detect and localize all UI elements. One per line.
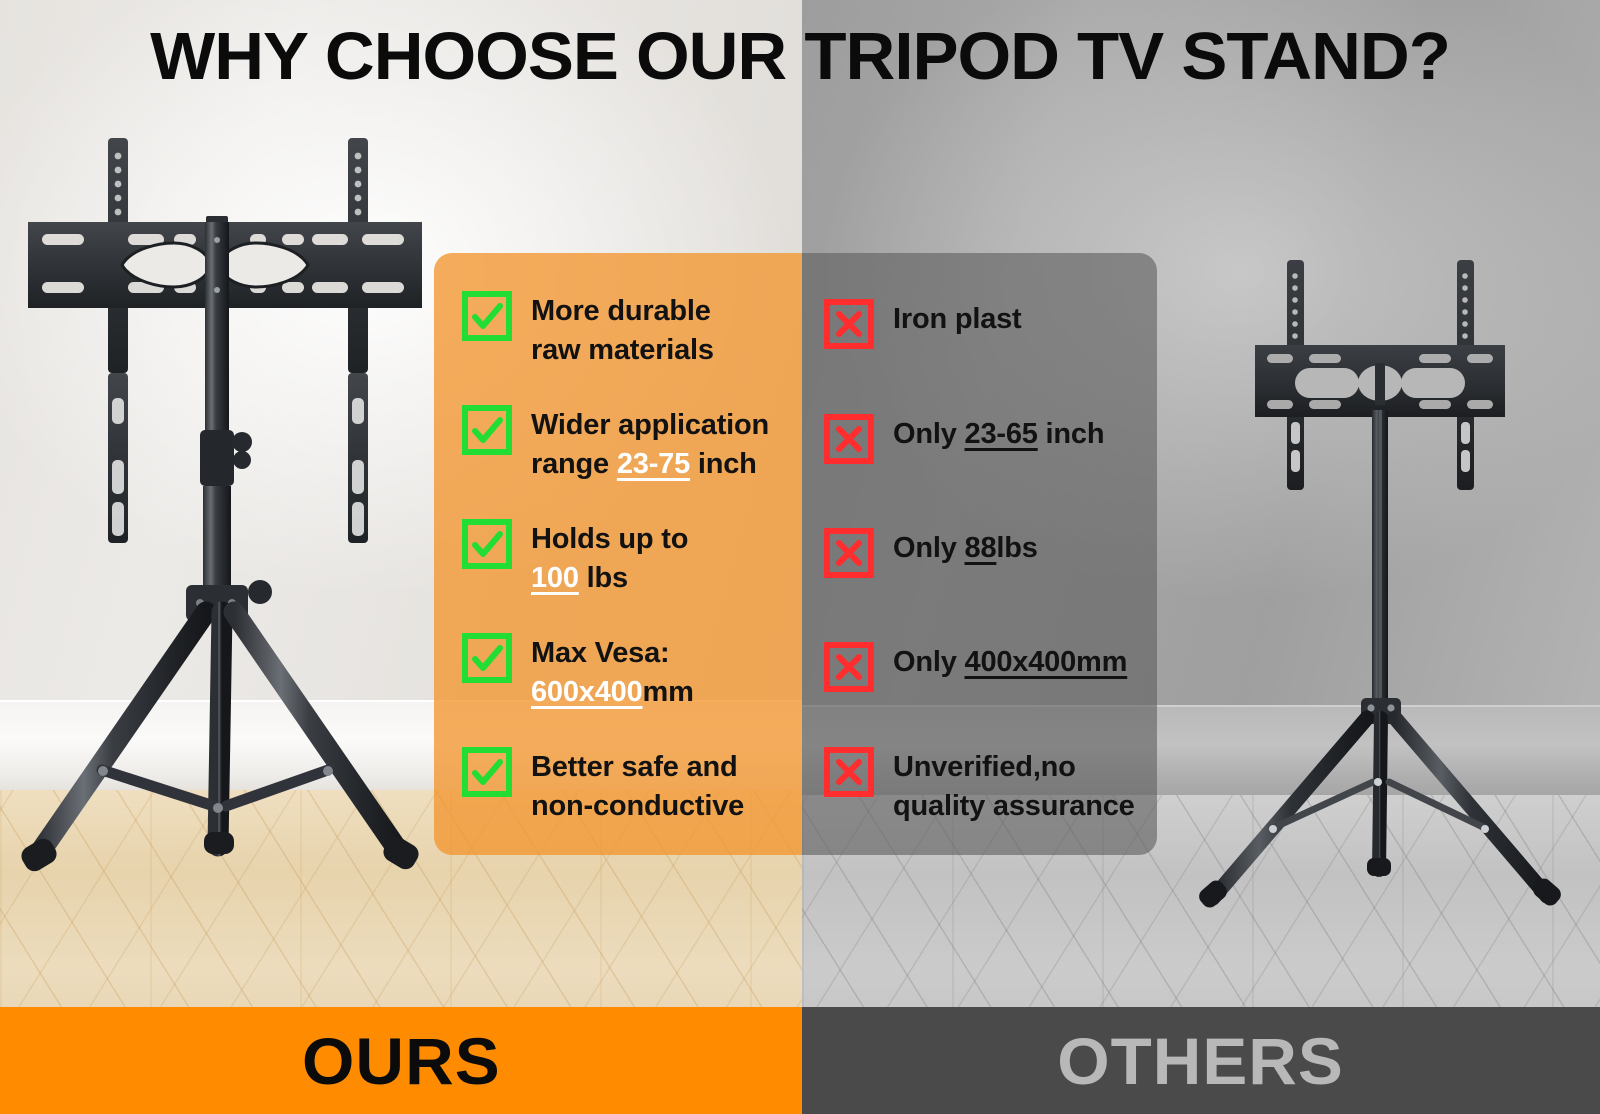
check-box-icon	[462, 405, 512, 455]
feature-line-1: More durable	[531, 295, 711, 327]
cross-box-icon	[824, 747, 874, 797]
feature-row-others-4: Only 400x400mm	[824, 642, 1154, 692]
banner-ours: OURS	[0, 1007, 802, 1114]
feature-line-1-suffix: inch	[1038, 418, 1105, 450]
cross-box-icon	[824, 528, 874, 578]
feature-row-ours-5: Better safe and non-conductive	[462, 747, 792, 826]
feature-row-others-3: Only 88lbs	[824, 528, 1154, 578]
product-image-ours	[10, 130, 440, 920]
feature-line-2-suffix: inch	[690, 448, 757, 480]
comparison-column-others: Iron plast Only 23-65 inch Only 88	[802, 253, 1157, 855]
comparison-panel: More durable raw materials Wider applica…	[434, 253, 1157, 855]
feature-text: Unverified,no quality assurance	[893, 747, 1135, 826]
check-box-icon	[462, 633, 512, 683]
feature-highlight-value: 100	[531, 562, 579, 594]
infographic-canvas: WHY CHOOSE OUR TRIPOD TV STAND? More dur…	[0, 0, 1600, 1114]
banner-label-ours: OURS	[302, 1028, 501, 1094]
feature-line-2: non-conductive	[531, 790, 744, 822]
feature-line-1-prefix: Only	[893, 418, 965, 450]
feature-line-1: Holds up to	[531, 523, 688, 555]
feature-row-ours-1: More durable raw materials	[462, 291, 792, 370]
feature-line-1: Unverified,no	[893, 751, 1076, 783]
feature-line-2-suffix: lbs	[579, 562, 628, 594]
feature-text: Better safe and non-conductive	[531, 747, 744, 826]
feature-text: Only 400x400mm	[893, 642, 1127, 682]
feature-text: Only 88lbs	[893, 528, 1038, 568]
product-image-others	[1175, 250, 1585, 950]
check-box-icon	[462, 519, 512, 569]
feature-line-1: Max Vesa:	[531, 637, 669, 669]
feature-line-1: Wider application	[531, 409, 769, 441]
feature-highlight-value: 23-75	[617, 448, 690, 480]
feature-text: Wider application range 23-75 inch	[531, 405, 769, 484]
feature-line-2: raw materials	[531, 334, 714, 366]
feature-highlight-value: 88	[965, 532, 997, 564]
feature-line-2-prefix: range	[531, 448, 617, 480]
feature-text: Holds up to 100 lbs	[531, 519, 688, 598]
cross-box-icon	[824, 299, 874, 349]
feature-line-1-suffix: lbs	[996, 532, 1037, 564]
page-title: WHY CHOOSE OUR TRIPOD TV STAND?	[0, 18, 1600, 96]
feature-text: Only 23-65 inch	[893, 414, 1104, 454]
feature-line-1: Iron plast	[893, 303, 1022, 335]
feature-highlight-value: 400x400mm	[965, 646, 1128, 678]
feature-row-ours-4: Max Vesa: 600x400mm	[462, 633, 792, 712]
feature-text: Iron plast	[893, 299, 1022, 339]
cross-box-icon	[824, 642, 874, 692]
feature-row-ours-2: Wider application range 23-75 inch	[462, 405, 792, 484]
feature-highlight-value: 600x400	[531, 676, 643, 708]
feature-text: Max Vesa: 600x400mm	[531, 633, 694, 712]
check-box-icon	[462, 291, 512, 341]
banner-others: OTHERS	[802, 1007, 1600, 1114]
feature-row-others-5: Unverified,no quality assurance	[824, 747, 1154, 826]
cross-box-icon	[824, 414, 874, 464]
feature-highlight-value: 23-65	[965, 418, 1038, 450]
feature-line-1-prefix: Only	[893, 646, 965, 678]
feature-line-1-prefix: Only	[893, 532, 965, 564]
feature-row-others-1: Iron plast	[824, 299, 1154, 349]
feature-row-others-2: Only 23-65 inch	[824, 414, 1154, 464]
banner-label-others: OTHERS	[1058, 1028, 1345, 1094]
feature-row-ours-3: Holds up to 100 lbs	[462, 519, 792, 598]
feature-text: More durable raw materials	[531, 291, 714, 370]
feature-line-2: quality assurance	[893, 790, 1135, 822]
feature-line-1: Better safe and	[531, 751, 738, 783]
feature-line-2-suffix: mm	[643, 676, 694, 708]
check-box-icon	[462, 747, 512, 797]
comparison-column-ours: More durable raw materials Wider applica…	[434, 253, 802, 855]
